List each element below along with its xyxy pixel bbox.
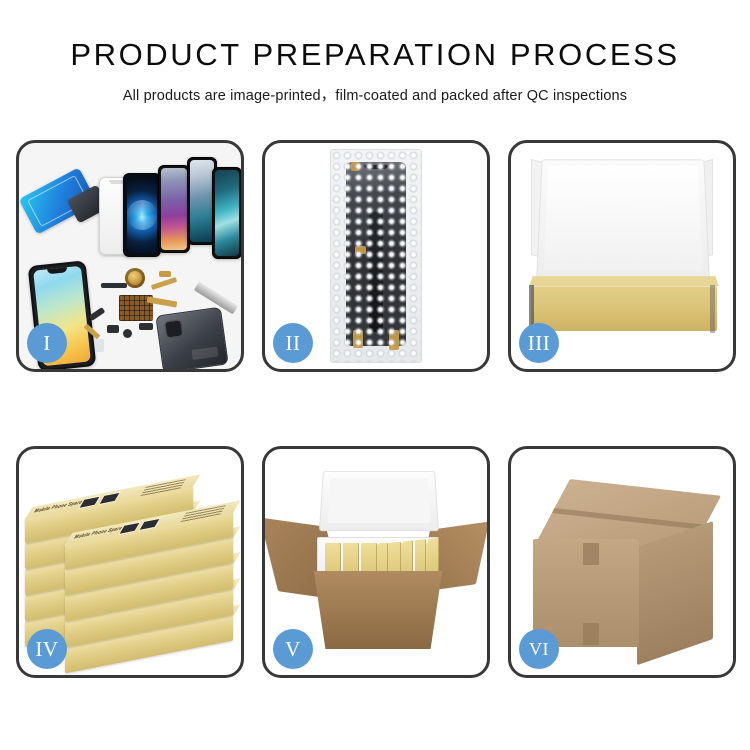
bubble-wrap-bag xyxy=(330,149,422,363)
step-badge-6: VI xyxy=(519,629,559,669)
process-step-panel-5: V xyxy=(262,446,490,678)
white-foam-lid xyxy=(536,159,710,278)
page-title: PRODUCT PREPARATION PROCESS xyxy=(0,38,750,72)
box-corner-right xyxy=(710,285,715,333)
component-chip xyxy=(107,325,119,333)
packing-tape-tab xyxy=(583,623,599,645)
gold-contact xyxy=(159,271,171,277)
process-step-panel-6: VI xyxy=(508,446,736,678)
open-brown-carton xyxy=(305,571,451,649)
component-chip xyxy=(123,329,132,338)
step-badge-2: II xyxy=(273,323,313,363)
component-chip xyxy=(101,283,127,288)
flex-cable xyxy=(151,277,177,290)
bubble-texture xyxy=(331,150,421,362)
packing-tape-tab xyxy=(583,543,599,565)
back-housing xyxy=(155,307,228,369)
product-preparation-infographic: PRODUCT PREPARATION PROCESS All products… xyxy=(0,0,750,750)
page-subtitle: All products are image-printed，film-coat… xyxy=(0,84,750,105)
copper-coil xyxy=(125,268,145,288)
step-badge-4: IV xyxy=(27,629,67,669)
step-badge-3: III xyxy=(519,323,559,363)
process-step-panel-4: Mobile Phone Spare Parts Mobile Phone Sp… xyxy=(16,446,244,678)
process-step-grid: I II xyxy=(16,140,738,678)
component-chip xyxy=(139,323,153,330)
foam-lid-open xyxy=(319,471,439,531)
process-step-panel-3: III xyxy=(508,140,736,372)
header: PRODUCT PREPARATION PROCESS All products… xyxy=(0,0,750,105)
process-step-panel-1: I xyxy=(16,140,244,372)
carton-side-face xyxy=(637,521,713,665)
step-badge-1: I xyxy=(27,323,67,363)
teal-phone xyxy=(212,167,241,259)
black-phone-blue-swirl xyxy=(123,173,161,257)
process-step-panel-2: II xyxy=(262,140,490,372)
purple-gradient-phone xyxy=(158,165,190,253)
kraft-box-open xyxy=(531,285,717,331)
step-badge-5: V xyxy=(273,629,313,669)
component-chip xyxy=(95,339,104,352)
component-chip xyxy=(89,307,106,321)
